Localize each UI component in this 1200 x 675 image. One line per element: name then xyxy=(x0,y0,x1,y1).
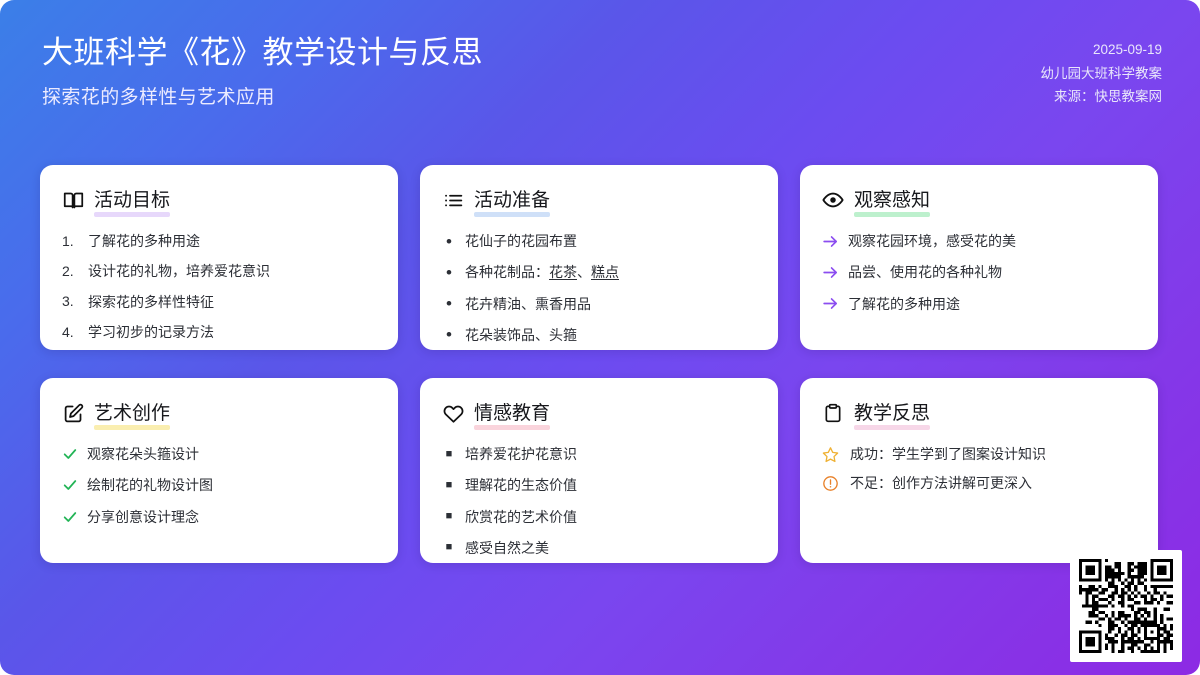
list-item: 观察花朵头箍设计 xyxy=(62,444,376,464)
card-item-list: •花仙子的花园布置•各种花制品：花茶、糕点•花卉精油、熏香用品•花朵装饰品、头箍 xyxy=(442,231,756,345)
check-icon xyxy=(62,507,78,527)
card-header: 活动准备 xyxy=(442,185,756,215)
list-item-text: 绘制花的礼物设计图 xyxy=(87,475,213,495)
check-icon xyxy=(62,475,78,495)
bullet-square-icon: ■ xyxy=(442,475,456,495)
card-teaching-reflection: 教学反思成功：学生学到了图案设计知识不足：创作方法讲解可更深入 xyxy=(800,378,1158,563)
meta-category: 幼儿园大班科学教案 xyxy=(1041,62,1163,86)
card-item-list: 观察花园环境，感受花的美品尝、使用花的各种礼物了解花的多种用途 xyxy=(822,231,1136,314)
arrow-right-icon xyxy=(822,262,839,282)
list-item: •花卉精油、熏香用品 xyxy=(442,294,756,314)
list-item-text: 学习初步的记录方法 xyxy=(88,322,214,342)
card-title: 观察感知 xyxy=(854,185,930,215)
list-item-text: 不足：创作方法讲解可更深入 xyxy=(850,473,1032,493)
list-number: 2. xyxy=(62,261,79,281)
list-item: 1.了解花的多种用途 xyxy=(62,231,376,251)
list-item: ■欣赏花的艺术价值 xyxy=(442,507,756,527)
card-title: 教学反思 xyxy=(854,398,930,428)
list-item: 观察花园环境，感受花的美 xyxy=(822,231,1136,251)
page-subtitle: 探索花的多样性与艺术应用 xyxy=(42,82,483,109)
bullet-dot-icon: • xyxy=(442,262,456,282)
card-header: 情感教育 xyxy=(442,398,756,428)
card-header: 艺术创作 xyxy=(62,398,376,428)
clipboard-icon xyxy=(822,402,844,424)
card-header: 活动目标 xyxy=(62,185,376,215)
list-item-text: 各种花制品：花茶、糕点 xyxy=(465,262,619,282)
card-emotional-education: 情感教育■培养爱花护花意识■理解花的生态价值■欣赏花的艺术价值■感受自然之美 xyxy=(420,378,778,563)
card-observation: 观察感知观察花园环境，感受花的美品尝、使用花的各种礼物了解花的多种用途 xyxy=(800,165,1158,350)
list-item: ■理解花的生态价值 xyxy=(442,475,756,495)
card-item-list: 成功：学生学到了图案设计知识不足：创作方法讲解可更深入 xyxy=(822,444,1136,494)
list-item-text: 成功：学生学到了图案设计知识 xyxy=(850,444,1046,464)
list-item-text: 感受自然之美 xyxy=(465,538,549,558)
list-item-text: 观察花园环境，感受花的美 xyxy=(848,231,1016,251)
bullet-square-icon: ■ xyxy=(442,444,456,464)
bullet-dot-icon: • xyxy=(442,231,456,251)
arrow-right-icon xyxy=(822,231,839,251)
bullet-dot-icon: • xyxy=(442,294,456,314)
list-item: 绘制花的礼物设计图 xyxy=(62,475,376,495)
list-item-text: 培养爱花护花意识 xyxy=(465,444,577,464)
list-item-text: 理解花的生态价值 xyxy=(465,475,577,495)
list-item: 了解花的多种用途 xyxy=(822,294,1136,314)
meta-source: 来源：快思教案网 xyxy=(1041,85,1163,109)
list-item: •各种花制品：花茶、糕点 xyxy=(442,262,756,282)
list-item: 2.设计花的礼物，培养爱花意识 xyxy=(62,261,376,281)
card-title: 活动准备 xyxy=(474,185,550,215)
book-icon xyxy=(62,189,84,211)
title-block: 大班科学《花》教学设计与反思 探索花的多样性与艺术应用 xyxy=(40,34,483,109)
list-item-text: 花朵装饰品、头箍 xyxy=(465,325,577,345)
poster-header: 大班科学《花》教学设计与反思 探索花的多样性与艺术应用 2025-09-19 幼… xyxy=(40,34,1162,109)
list-item: 3.探索花的多样性特征 xyxy=(62,292,376,312)
list-item: •花仙子的花园布置 xyxy=(442,231,756,251)
card-title: 艺术创作 xyxy=(94,398,170,428)
list-item-text: 设计花的礼物，培养爱花意识 xyxy=(88,261,270,281)
list-item-text: 欣赏花的艺术价值 xyxy=(465,507,577,527)
list-item-text: 品尝、使用花的各种礼物 xyxy=(848,262,1002,282)
page-title: 大班科学《花》教学设计与反思 xyxy=(42,34,483,73)
list-number: 4. xyxy=(62,322,79,342)
alert-circle-icon xyxy=(822,473,839,493)
card-preparation: 活动准备•花仙子的花园布置•各种花制品：花茶、糕点•花卉精油、熏香用品•花朵装饰… xyxy=(420,165,778,350)
card-item-list: ■培养爱花护花意识■理解花的生态价值■欣赏花的艺术价值■感受自然之美 xyxy=(442,444,756,558)
list-item: 不足：创作方法讲解可更深入 xyxy=(822,473,1136,493)
list-item-text: 花仙子的花园布置 xyxy=(465,231,577,251)
check-icon xyxy=(62,444,78,464)
list-item: ■培养爱花护花意识 xyxy=(442,444,756,464)
edit-square-icon xyxy=(62,402,84,424)
card-grid: 活动目标1.了解花的多种用途2.设计花的礼物，培养爱花意识3.探索花的多样性特征… xyxy=(40,165,1160,563)
bullet-dot-icon: • xyxy=(442,325,456,345)
card-art-creation: 艺术创作观察花朵头箍设计绘制花的礼物设计图分享创意设计理念 xyxy=(40,378,398,563)
card-header: 教学反思 xyxy=(822,398,1136,428)
qr-code xyxy=(1079,559,1173,653)
poster-canvas: 大班科学《花》教学设计与反思 探索花的多样性与艺术应用 2025-09-19 幼… xyxy=(0,0,1200,675)
list-number: 1. xyxy=(62,231,79,251)
list-item: 成功：学生学到了图案设计知识 xyxy=(822,444,1136,464)
heart-icon xyxy=(442,402,464,424)
list-item-text: 了解花的多种用途 xyxy=(848,294,960,314)
list-item: •花朵装饰品、头箍 xyxy=(442,325,756,345)
list-item: ■感受自然之美 xyxy=(442,538,756,558)
qr-code-container[interactable] xyxy=(1070,550,1182,662)
list-item-text: 了解花的多种用途 xyxy=(88,231,200,251)
card-title: 情感教育 xyxy=(474,398,550,428)
list-item-text: 分享创意设计理念 xyxy=(87,507,199,527)
card-header: 观察感知 xyxy=(822,185,1136,215)
list-item-text: 观察花朵头箍设计 xyxy=(87,444,199,464)
arrow-right-icon xyxy=(822,294,839,314)
list-number: 3. xyxy=(62,292,79,312)
card-objectives: 活动目标1.了解花的多种用途2.设计花的礼物，培养爱花意识3.探索花的多样性特征… xyxy=(40,165,398,350)
eye-icon xyxy=(822,189,844,211)
meta-date: 2025-09-19 xyxy=(1041,38,1163,62)
list-item-text: 花卉精油、熏香用品 xyxy=(465,294,591,314)
list-item: 4.学习初步的记录方法 xyxy=(62,322,376,342)
list-item: 品尝、使用花的各种礼物 xyxy=(822,262,1136,282)
list-icon xyxy=(442,189,464,211)
list-item: 分享创意设计理念 xyxy=(62,507,376,527)
card-title: 活动目标 xyxy=(94,185,170,215)
bullet-square-icon: ■ xyxy=(442,538,456,558)
star-icon xyxy=(822,444,839,464)
card-item-list: 1.了解花的多种用途2.设计花的礼物，培养爱花意识3.探索花的多样性特征4.学习… xyxy=(62,231,376,342)
header-meta: 2025-09-19 幼儿园大班科学教案 来源：快思教案网 xyxy=(1041,34,1163,109)
bullet-square-icon: ■ xyxy=(442,507,456,527)
list-item-text: 探索花的多样性特征 xyxy=(88,292,214,312)
card-item-list: 观察花朵头箍设计绘制花的礼物设计图分享创意设计理念 xyxy=(62,444,376,527)
